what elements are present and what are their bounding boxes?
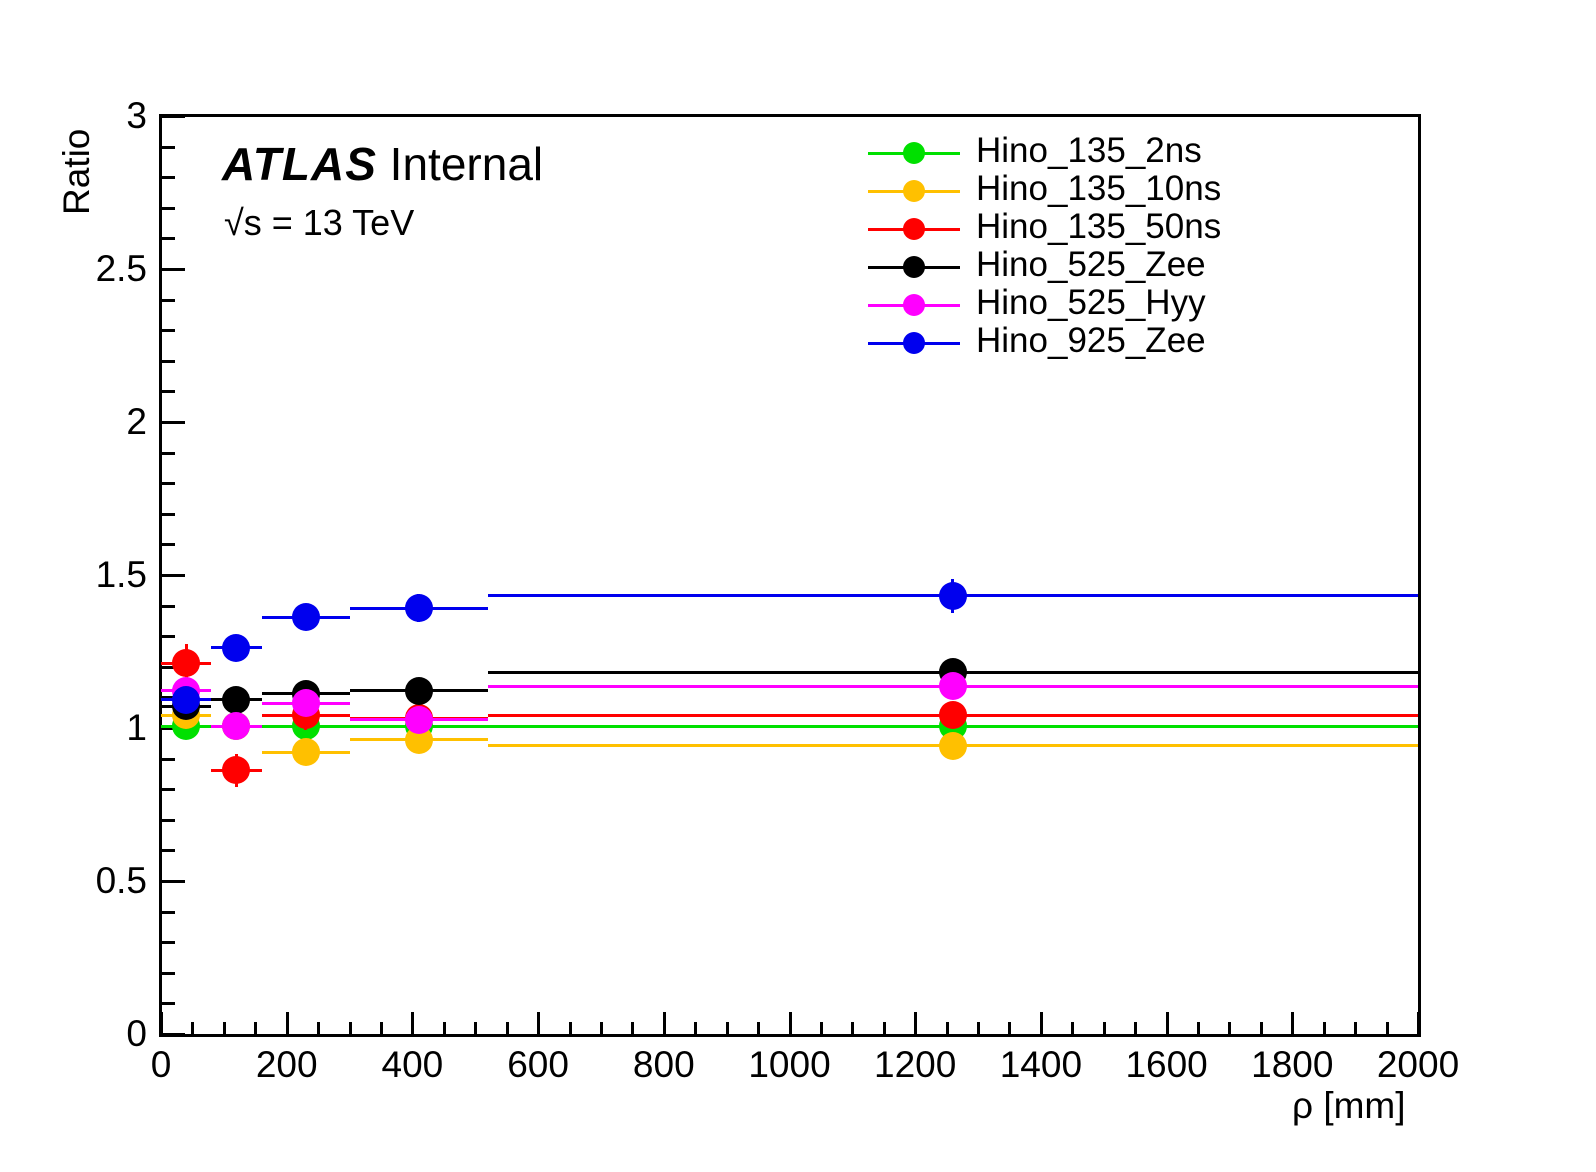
- y-tick-label: 0: [15, 1015, 147, 1052]
- legend-item-Hino_135_10ns[interactable]: Hino_135_10ns: [868, 172, 1198, 210]
- legend-label: Hino_135_50ns: [976, 207, 1221, 247]
- data-point: [939, 582, 967, 610]
- data-point: [405, 594, 433, 622]
- plot-data-area: [161, 114, 1419, 1035]
- legend-label: Hino_135_2ns: [976, 131, 1202, 171]
- y-tick-label: 0.5: [15, 862, 147, 899]
- legend-marker-icon: [903, 218, 925, 240]
- x-tick-label: 800: [604, 1046, 724, 1083]
- data-point: [172, 686, 200, 714]
- x-tick-label: 1600: [1107, 1046, 1227, 1083]
- x-tick-label: 1400: [981, 1046, 1101, 1083]
- legend-item-Hino_525_Zee[interactable]: Hino_525_Zee: [868, 248, 1198, 286]
- series-Hino_925_Zee: [161, 114, 1419, 1035]
- y-tick-label: 3: [15, 97, 147, 134]
- x-tick-label: 600: [478, 1046, 598, 1083]
- legend-label: Hino_525_Hyy: [976, 283, 1206, 323]
- y-tick-label: 2: [15, 403, 147, 440]
- legend-item-Hino_925_Zee[interactable]: Hino_925_Zee: [868, 324, 1198, 362]
- data-point: [292, 603, 320, 631]
- y-tick-label: 2.5: [15, 250, 147, 287]
- legend-label: Hino_925_Zee: [976, 321, 1206, 361]
- legend: Hino_135_2nsHino_135_10nsHino_135_50nsHi…: [868, 134, 1198, 362]
- chart-canvas: Ratio ATLAS Internal √s = 13 TeV 0200400…: [0, 0, 1596, 1172]
- x-tick-label: 400: [352, 1046, 472, 1083]
- x-tick-label: 1800: [1232, 1046, 1352, 1083]
- legend-marker-icon: [903, 332, 925, 354]
- y-tick-label: 1.5: [15, 556, 147, 593]
- legend-marker-icon: [903, 256, 925, 278]
- x-tick-label: 1200: [855, 1046, 975, 1083]
- y-tick-label: 1: [15, 709, 147, 746]
- legend-item-Hino_525_Hyy[interactable]: Hino_525_Hyy: [868, 286, 1198, 324]
- legend-marker-icon: [903, 294, 925, 316]
- x-tick-label: 200: [227, 1046, 347, 1083]
- y-axis-title: Ratio: [56, 129, 98, 215]
- data-point: [222, 634, 250, 662]
- x-tick-label: 1000: [730, 1046, 850, 1083]
- legend-label: Hino_525_Zee: [976, 245, 1206, 285]
- legend-marker-icon: [903, 142, 925, 164]
- x-axis-title: ρ [mm]: [1292, 1085, 1406, 1127]
- legend-item-Hino_135_50ns[interactable]: Hino_135_50ns: [868, 210, 1198, 248]
- legend-label: Hino_135_10ns: [976, 169, 1221, 209]
- legend-item-Hino_135_2ns[interactable]: Hino_135_2ns: [868, 134, 1198, 172]
- x-tick-label: 2000: [1358, 1046, 1478, 1083]
- legend-marker-icon: [903, 180, 925, 202]
